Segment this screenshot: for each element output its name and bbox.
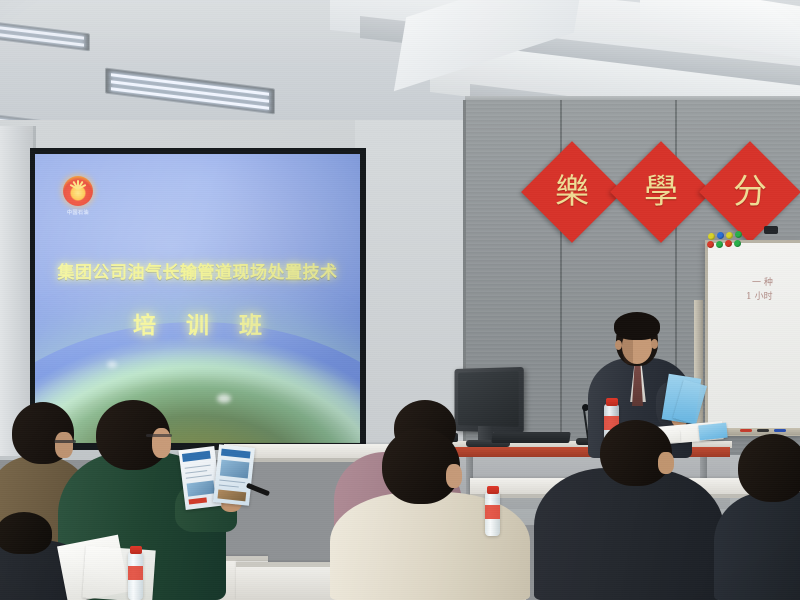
attendee-cream-ear <box>446 464 462 488</box>
petrochina-logo-text: 中国石油 <box>61 209 95 216</box>
presenter-ear-right <box>651 339 658 349</box>
placard-char-1: 樂 <box>536 156 608 228</box>
attendee-far-right-head <box>738 434 800 502</box>
whiteboard-marker-blue <box>774 429 786 432</box>
slide-earth-glow <box>35 327 360 443</box>
water-bottle-front-left[interactable] <box>128 552 143 600</box>
attendee-suit-right-ear <box>658 452 674 474</box>
brochure-right-page <box>213 444 255 505</box>
logo-sun-icon <box>70 185 86 201</box>
attendee-green-face <box>152 428 171 458</box>
desktop-monitor[interactable] <box>455 367 524 433</box>
attendee-bl-head <box>0 512 52 554</box>
whiteboard-note-2: 1 小时 <box>746 289 773 302</box>
projection-screen: 中国石油 集团公司油气长输管道现场处置技术 培 训 班 <box>30 148 366 450</box>
whiteboard-note-1: 一 种 <box>752 275 773 288</box>
water-bottle-center[interactable] <box>485 492 500 536</box>
attendee-olive-glasses <box>54 440 76 443</box>
whiteboard-marker-red <box>740 429 752 432</box>
placard-le: 樂 <box>521 141 623 243</box>
petrochina-logo-mark <box>63 176 93 206</box>
water-bottle-cap-center <box>487 486 499 494</box>
slide-earth-graphic <box>35 322 360 443</box>
water-bottle-cap-front-left <box>130 546 142 554</box>
monitor-rear-panel <box>458 371 519 427</box>
attendee-cream-body <box>330 492 530 600</box>
papers-front-left-2 <box>82 546 155 600</box>
presenter-ear-left <box>615 340 622 350</box>
slide-earth-highlight-1 <box>217 394 231 403</box>
whiteboard-clip <box>764 226 778 234</box>
placard-char-2: 學 <box>625 156 697 228</box>
placard-char-3: 分 <box>714 156 786 228</box>
attendee-green-glasses <box>146 434 172 437</box>
whiteboard: 一 种 1 小时 <box>705 240 800 436</box>
attendee-olive-face <box>55 432 73 458</box>
placard-fen: 分 <box>699 141 800 243</box>
attendee-far-right-body <box>714 492 800 600</box>
slide-earth-highlight-2 <box>107 361 117 368</box>
projected-slide: 中国石油 集团公司油气长输管道现场处置技术 培 训 班 <box>35 154 360 443</box>
desk-blue-folder <box>698 423 727 441</box>
keyboard[interactable] <box>491 432 571 443</box>
slide-subtitle: 培 训 班 <box>35 306 360 340</box>
petrochina-logo: 中国石油 <box>61 176 95 216</box>
classroom-photo: 中国石油 集团公司油气长输管道现场处置技术 培 训 班 樂 學 分 一 种 1 … <box>0 0 800 600</box>
presenter-hair <box>614 312 660 340</box>
slide-title: 集团公司油气长输管道现场处置技术 <box>35 258 360 283</box>
water-bottle-cap <box>606 398 618 406</box>
attendee-suit-right-body <box>534 468 724 600</box>
placard-xue: 學 <box>610 141 712 243</box>
whiteboard-marker-black <box>757 429 769 432</box>
